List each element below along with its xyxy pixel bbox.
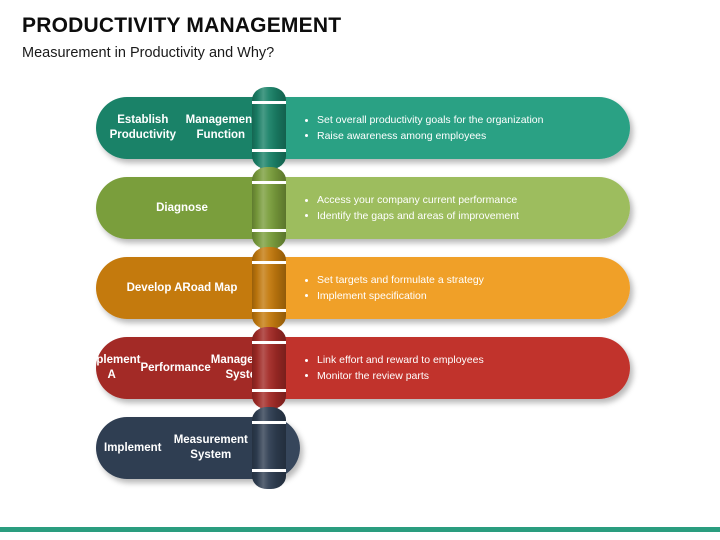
page-title: PRODUCTIVITY MANAGEMENT <box>22 14 682 37</box>
step-bullet-list: Access your company current performanceI… <box>304 177 616 239</box>
step-label-line: Establish Productivity <box>104 113 182 142</box>
pole-shading <box>252 327 286 409</box>
pole-stripe-top <box>252 421 286 424</box>
process-step-row[interactable]: DiagnoseAccess your company current perf… <box>96 177 630 239</box>
process-step-row[interactable]: Establish ProductivityManagement Functio… <box>96 97 630 159</box>
step-bullet-item: Link effort and reward to employees <box>304 353 616 369</box>
step-bullet-item: Set overall productivity goals for the o… <box>304 113 616 129</box>
pole-stripe-bottom <box>252 229 286 232</box>
page-subtitle: Measurement in Productivity and Why? <box>22 46 682 62</box>
step-bullet-item: Monitor the review parts <box>304 368 616 384</box>
slide-header: PRODUCTIVITY MANAGEMENT Measurement in P… <box>22 14 682 62</box>
step-label-line: Road Map <box>182 281 237 296</box>
pole-shading <box>252 87 286 169</box>
pole-stripe-bottom <box>252 389 286 392</box>
pole-shading <box>252 247 286 329</box>
pole-stripe-top <box>252 181 286 184</box>
step-label: Implement APerformanceManagement System <box>96 337 268 399</box>
step-label: Develop ARoad Map <box>96 257 268 319</box>
step-bullet-item: Identify the gaps and areas of improveme… <box>304 208 616 224</box>
step-bullet-item: Set targets and formulate a strategy <box>304 273 616 289</box>
step-label-line: Implement <box>104 441 162 456</box>
step-label-line: Diagnose <box>156 201 208 216</box>
process-step-row[interactable]: Implement APerformanceManagement SystemL… <box>96 337 630 399</box>
pole-cylinder <box>252 87 286 169</box>
process-step-row[interactable]: Develop ARoad MapSet targets and formula… <box>96 257 630 319</box>
connector-pole-segment <box>252 327 286 409</box>
pole-cylinder <box>252 247 286 329</box>
pole-cylinder <box>252 167 286 249</box>
pole-stripe-bottom <box>252 309 286 312</box>
step-label-line: Management Function <box>182 113 260 142</box>
connector-pole-segment <box>252 247 286 329</box>
connector-pole-segment <box>252 167 286 249</box>
step-label: Establish ProductivityManagement Functio… <box>96 97 268 159</box>
bottom-accent-bar <box>0 527 720 532</box>
step-bullet-item: Implement specification <box>304 288 616 304</box>
pole-stripe-top <box>252 341 286 344</box>
step-label: ImplementMeasurement System <box>96 417 268 479</box>
step-label: Diagnose <box>96 177 268 239</box>
step-label-line: Implement A <box>83 353 141 382</box>
pole-stripe-top <box>252 261 286 264</box>
step-bullet-item: Access your company current performance <box>304 193 616 209</box>
step-label-line: Develop A <box>127 281 183 296</box>
pole-stripe-bottom <box>252 149 286 152</box>
pole-cylinder <box>252 327 286 409</box>
step-bullet-list: Link effort and reward to employeesMonit… <box>304 337 616 399</box>
slide-canvas: PRODUCTIVITY MANAGEMENT Measurement in P… <box>0 0 720 540</box>
connector-pole-segment <box>252 407 286 489</box>
pole-stripe-bottom <box>252 469 286 472</box>
step-bullet-list: Set overall productivity goals for the o… <box>304 97 616 159</box>
step-bullet-item: Raise awareness among employees <box>304 128 616 144</box>
pole-stripe-top <box>252 101 286 104</box>
connector-pole-segment <box>252 87 286 169</box>
step-bullet-list: Set targets and formulate a strategyImpl… <box>304 257 616 319</box>
pole-cylinder <box>252 407 286 489</box>
step-label-line: Performance <box>140 361 210 376</box>
pole-shading <box>252 407 286 489</box>
pole-shading <box>252 167 286 249</box>
step-label-line: Measurement System <box>162 433 260 462</box>
